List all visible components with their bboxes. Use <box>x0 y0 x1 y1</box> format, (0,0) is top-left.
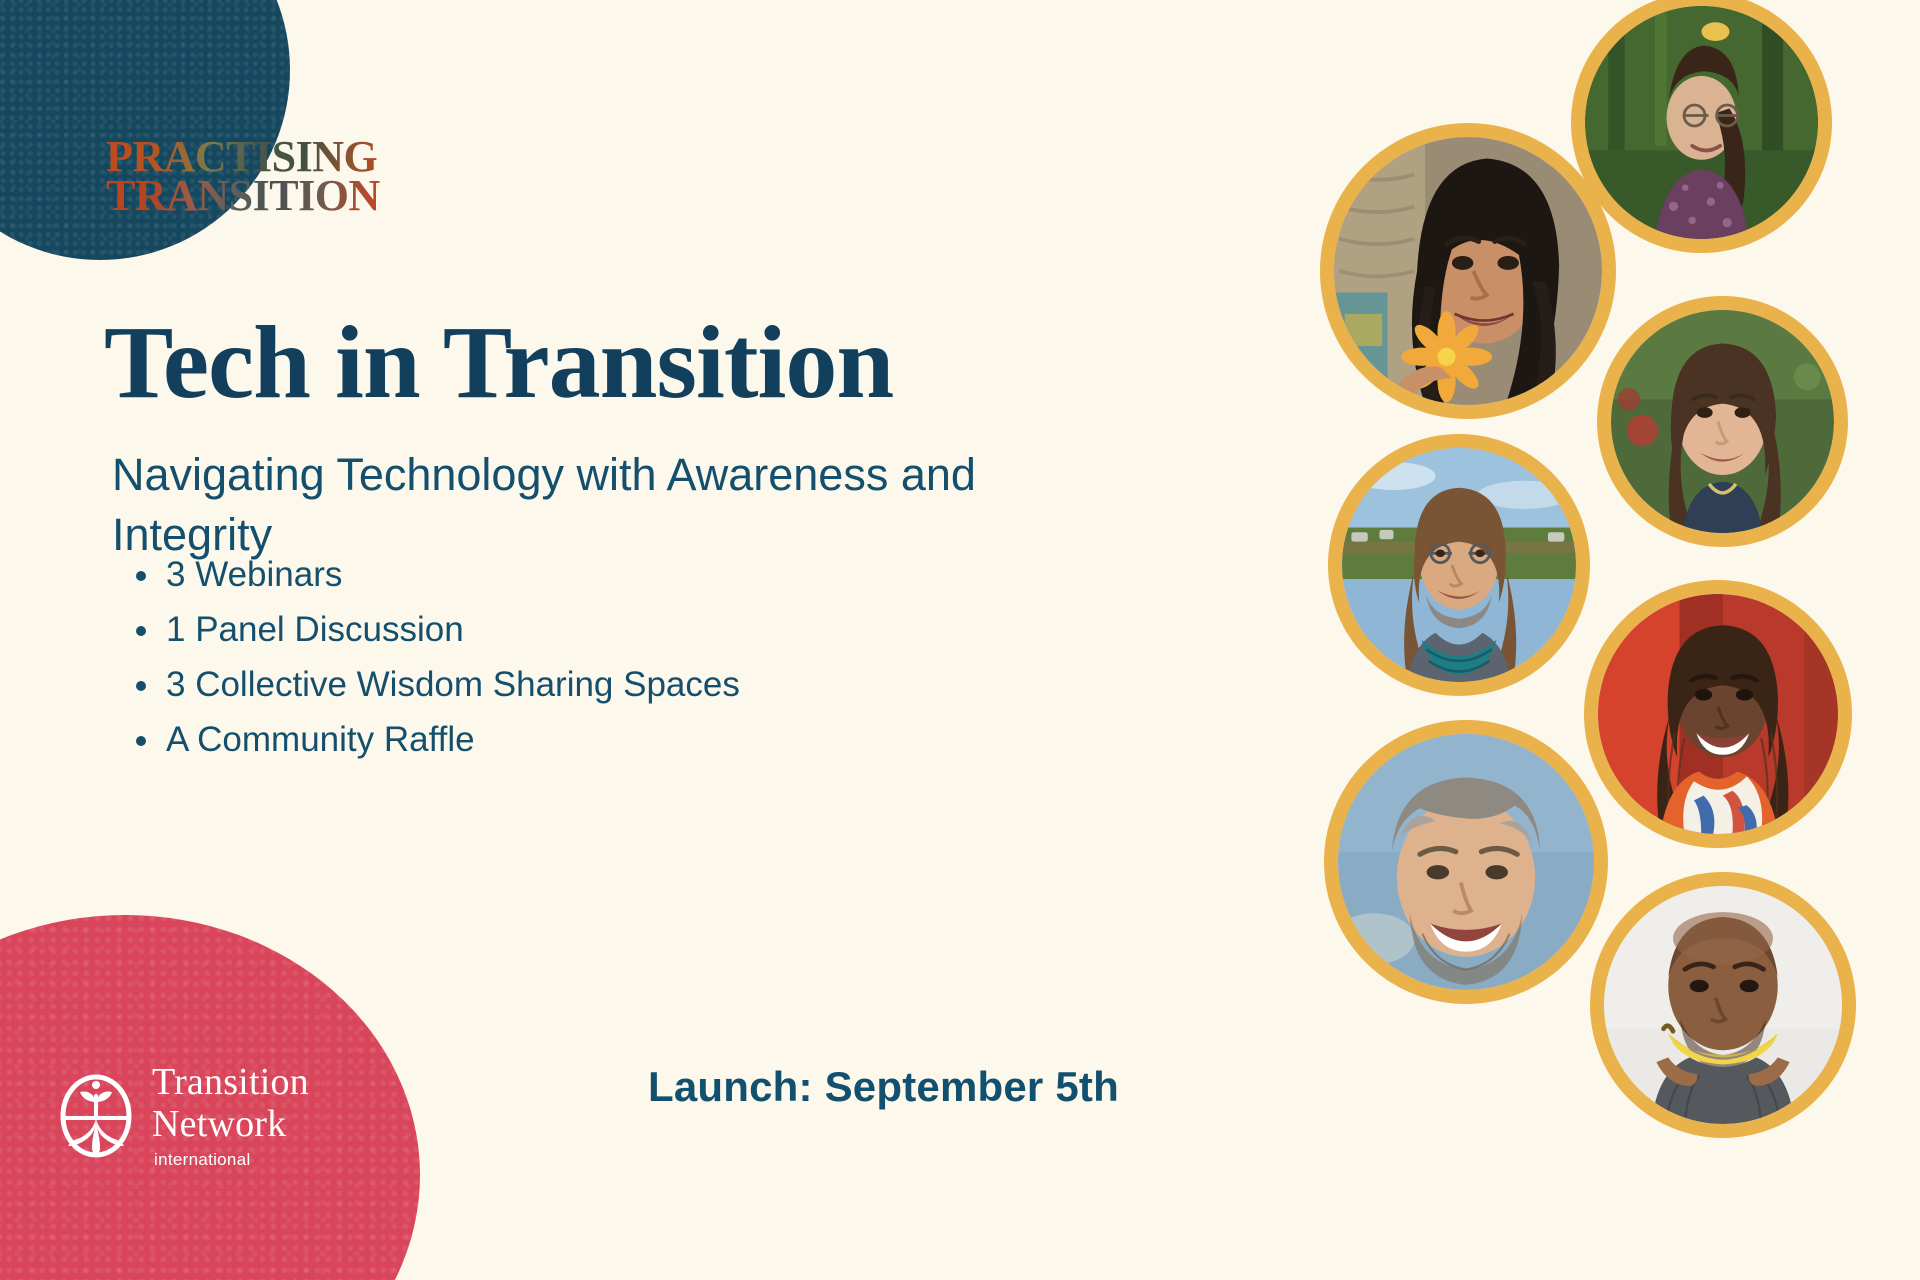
list-item: 3 Collective Wisdom Sharing Spaces <box>166 658 740 713</box>
photo-portrait-man-blue-sky <box>1324 720 1608 1004</box>
photo-image <box>1611 310 1834 533</box>
list-item: 3 Webinars <box>166 548 740 603</box>
logo-line-2: Network <box>152 1105 309 1143</box>
logo-line-3: international <box>154 1151 309 1168</box>
photo-image <box>1604 886 1842 1124</box>
poster-canvas: PRACTISING TRANSITION Tech in Transition… <box>0 0 1920 1280</box>
transition-network-logo: Transition Network international <box>58 1063 309 1168</box>
navy-blob-decoration <box>0 0 290 260</box>
speaker-photo-cluster <box>1160 0 1920 1280</box>
photo-portrait-woman-brown-hair-garden <box>1597 296 1848 547</box>
list-item: 1 Panel Discussion <box>166 603 740 658</box>
photo-portrait-man-with-banana-smile <box>1590 872 1856 1138</box>
photo-image <box>1598 594 1838 834</box>
transition-network-wordmark: Transition Network international <box>152 1063 309 1168</box>
photo-image <box>1342 448 1576 682</box>
photo-portrait-man-long-hair-scarf <box>1328 434 1590 696</box>
logo-line-1: Transition <box>152 1063 309 1101</box>
launch-date-text: Launch: September 5th <box>648 1063 1119 1111</box>
subtitle: Navigating Technology with Awareness and… <box>112 445 1072 565</box>
photo-portrait-woman-in-forest <box>1571 0 1832 253</box>
photo-portrait-woman-with-yellow-flower <box>1320 123 1616 419</box>
photo-image <box>1338 734 1594 990</box>
tree-roots-oval-icon <box>58 1072 134 1160</box>
page-title: Tech in Transition <box>104 308 893 417</box>
photo-portrait-woman-orange-scarf <box>1584 580 1852 848</box>
wordmark-line-2: TRANSITION <box>106 177 380 216</box>
program-highlights-list: 3 Webinars 1 Panel Discussion 3 Collecti… <box>118 548 740 768</box>
list-item: A Community Raffle <box>166 713 740 768</box>
practising-transition-wordmark: PRACTISING TRANSITION <box>106 138 380 215</box>
photo-image <box>1334 137 1602 405</box>
photo-image <box>1585 6 1818 239</box>
